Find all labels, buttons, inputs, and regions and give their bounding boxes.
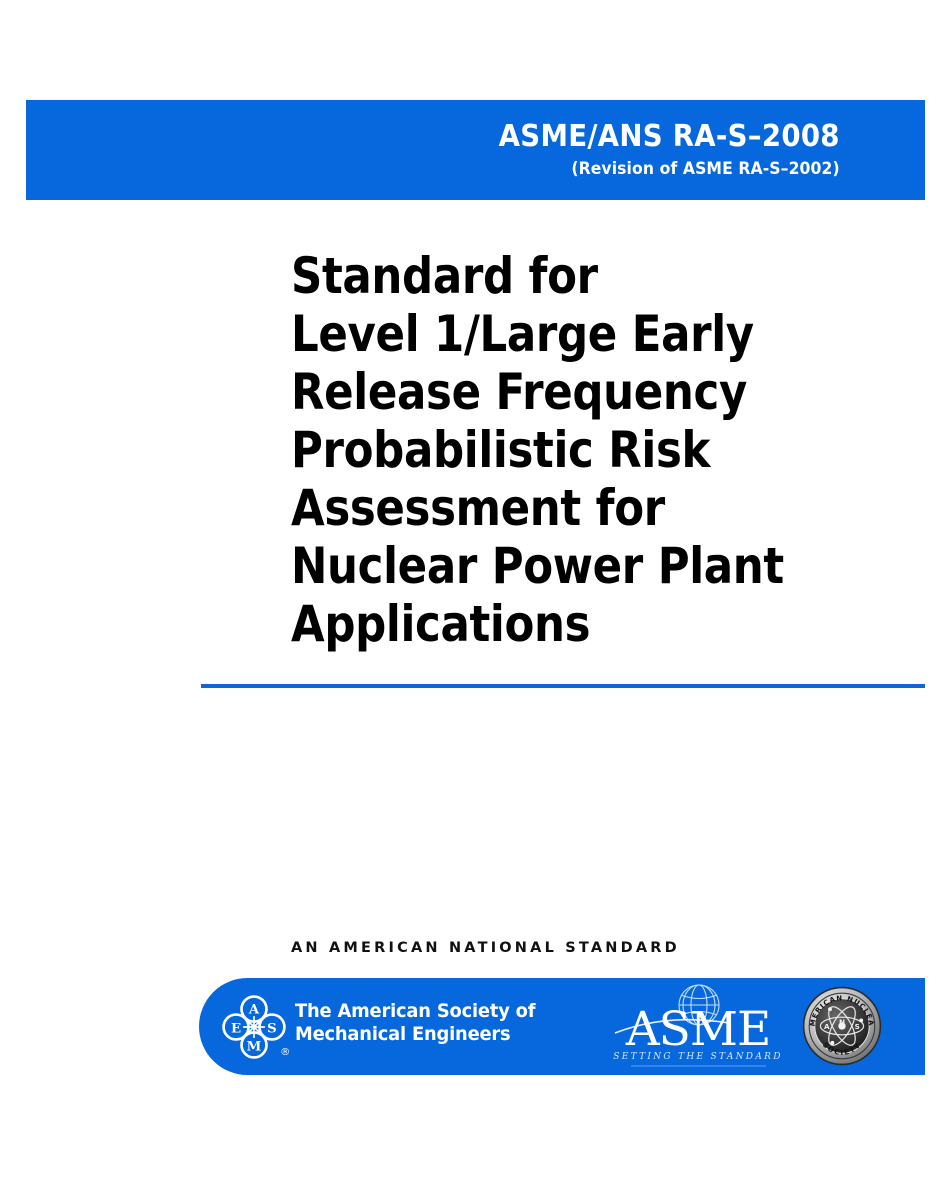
title-line-5: Assessment for — [291, 479, 752, 537]
svg-text:N: N — [839, 1017, 845, 1026]
title-line-7: Applications — [291, 595, 752, 653]
page-title: Standard for Level 1/Large Early Release… — [291, 247, 821, 653]
svg-text:A: A — [248, 1003, 260, 1018]
title-line-4: Probabilistic Risk — [291, 421, 752, 479]
document-cover-page: ASME/ANS RA-S–2008 (Revision of ASME RA-… — [0, 0, 950, 1200]
asme-society-line-1: The American Society of — [295, 1000, 535, 1023]
title-divider-rule — [201, 684, 925, 688]
revision-note: (Revision of ASME RA-S–2002) — [572, 159, 840, 179]
svg-text:ASME: ASME — [625, 1002, 771, 1057]
svg-text:S: S — [267, 1021, 277, 1036]
header-band: ASME/ANS RA-S–2008 (Revision of ASME RA-… — [26, 100, 925, 200]
svg-text:E: E — [231, 1021, 241, 1036]
national-standard-designation: AN AMERICAN NATIONAL STANDARD — [291, 940, 680, 956]
svg-text:M: M — [247, 1039, 262, 1054]
asme-society-line-2: Mechanical Engineers — [295, 1023, 535, 1046]
asme-society-name: The American Society of Mechanical Engin… — [295, 1000, 535, 1046]
footer-logo-band: A S E M ® The American Society of Mechan… — [199, 978, 925, 1075]
title-line-3: Release Frequency — [291, 363, 752, 421]
title-line-6: Nuclear Power Plant — [291, 537, 752, 595]
title-line-2: Level 1/Large Early — [291, 305, 752, 363]
svg-text:A: A — [824, 1022, 830, 1031]
standard-number: ASME/ANS RA-S–2008 — [499, 121, 840, 153]
svg-text:SETTING THE STANDARD: SETTING THE STANDARD — [613, 1052, 782, 1062]
ans-seal-icon: A N S AMERICAN NUCLEAR SOCIETY — [802, 986, 882, 1066]
svg-text:S: S — [855, 1022, 860, 1031]
asme-wordmark-logo: ASME SETTING THE STANDARD — [611, 983, 786, 1071]
svg-text:®: ® — [280, 1047, 290, 1058]
asme-cloverleaf-icon: A S E M ® — [215, 988, 293, 1066]
title-line-1: Standard for — [291, 247, 752, 305]
